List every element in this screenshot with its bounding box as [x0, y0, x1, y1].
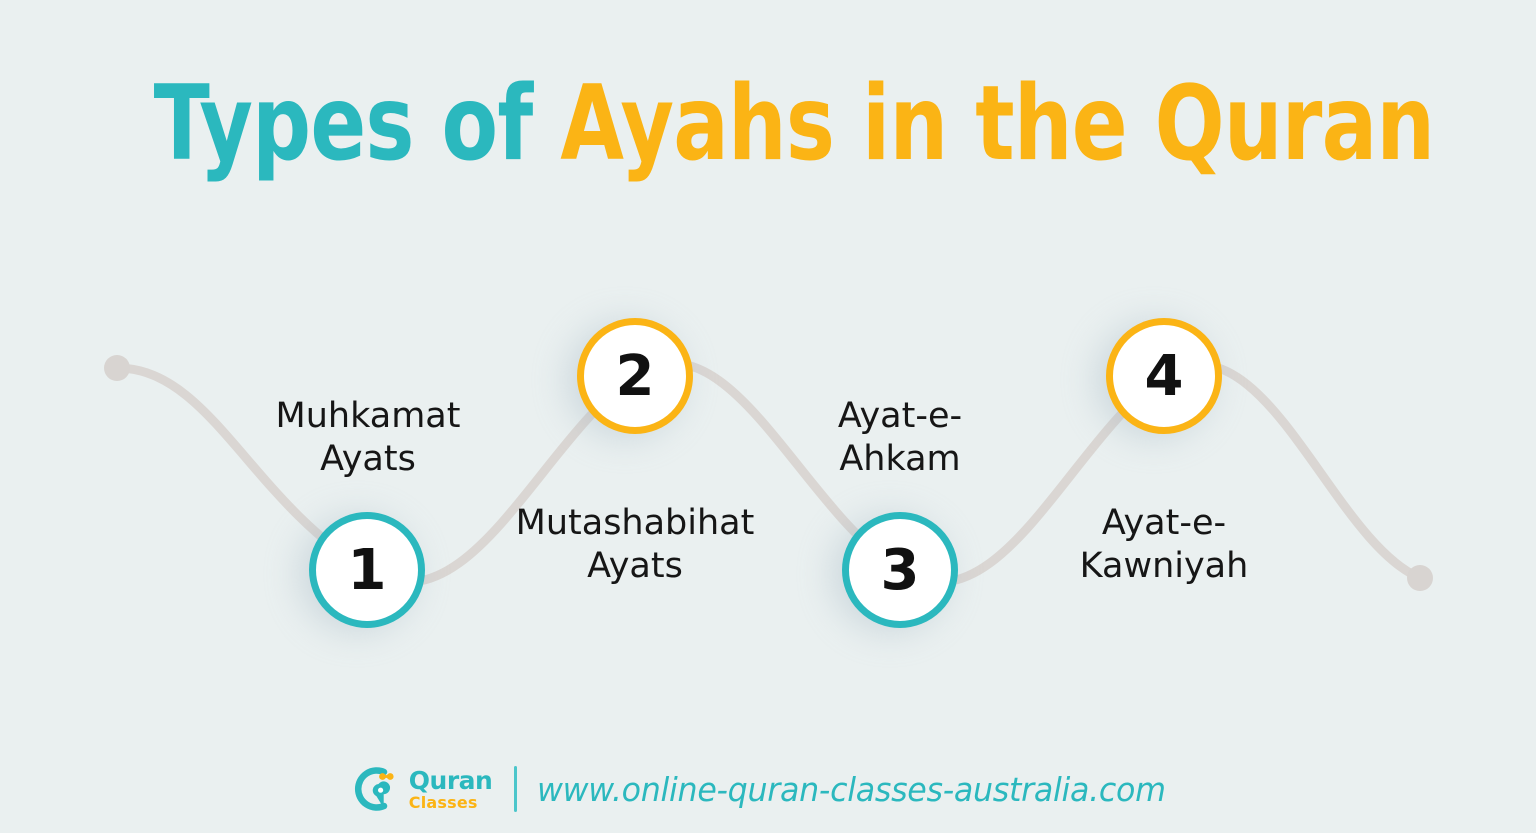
brand-name-primary: Quran — [409, 768, 493, 793]
step-node-4[interactable]: 4 — [1106, 318, 1222, 434]
step-number-4: 4 — [1145, 344, 1184, 409]
step-number-3: 3 — [881, 538, 920, 603]
step-label-3: Ayat-e- Ahkam — [720, 395, 1080, 480]
step-node-1[interactable]: 1 — [309, 512, 425, 628]
step-number-2: 2 — [616, 344, 655, 409]
brand-logo[interactable]: Quran Classes — [344, 763, 493, 815]
step-label-4: Ayat-e- Kawniyah — [984, 502, 1344, 587]
infographic-canvas: Types of Ayahs in the Quran 1 Muhkamat A… — [0, 0, 1536, 833]
quran-classes-logo-icon — [344, 763, 402, 815]
footer: Quran Classes www.online-quran-classes-a… — [0, 763, 1536, 815]
step-node-2[interactable]: 2 — [577, 318, 693, 434]
connector-start-dot — [104, 355, 130, 381]
step-label-1: Muhkamat Ayats — [188, 395, 548, 480]
step-number-1: 1 — [348, 538, 387, 603]
footer-divider — [514, 766, 517, 812]
brand-name-secondary: Classes — [409, 795, 493, 811]
brand-logo-text: Quran Classes — [409, 768, 493, 811]
step-node-3[interactable]: 3 — [842, 512, 958, 628]
website-url[interactable]: www.online-quran-classes-australia.com — [537, 770, 1166, 809]
step-label-2: Mutashabihat Ayats — [455, 502, 815, 587]
connector-end-dot — [1407, 565, 1433, 591]
